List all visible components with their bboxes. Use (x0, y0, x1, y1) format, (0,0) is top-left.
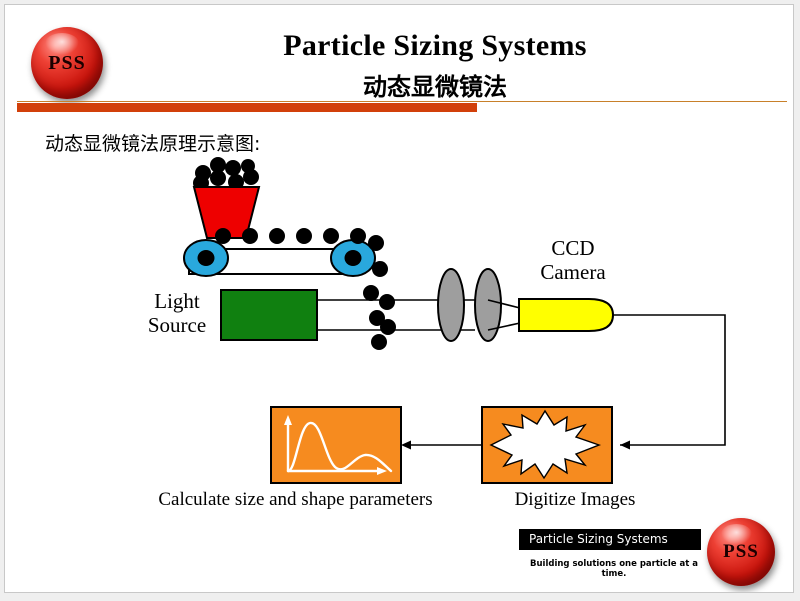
pss-logo-footer: PSS (707, 518, 775, 586)
ccd-camera-label-line2: Camera (540, 260, 605, 284)
left-pulley (184, 240, 228, 276)
footer-brand-text: Particle Sizing Systems (529, 532, 668, 546)
signal-arrowhead-digitize (620, 441, 630, 450)
arrow-head-calculate (401, 441, 411, 450)
lens-two (475, 269, 501, 341)
lens-one (438, 269, 464, 341)
footer-tagline: Building solutions one particle at a tim… (519, 559, 709, 579)
ccd-camera-label: CCD Camera (513, 237, 633, 284)
light-source-label-line2: Source (148, 313, 206, 337)
slide-canvas: PSS Particle Sizing Systems 动态显微镜法 动态显微镜… (4, 4, 794, 593)
light-source-box (221, 290, 317, 340)
pss-logo-footer-text: PSS (707, 518, 775, 586)
hopper-particles (193, 157, 259, 191)
calculate-caption: Calculate size and shape parameters (113, 489, 478, 510)
light-source-label-line1: Light (154, 289, 200, 313)
ccd-camera (519, 299, 613, 331)
light-source-label: Light Source (133, 290, 221, 337)
signal-path (613, 315, 725, 445)
ccd-camera-label-line1: CCD (551, 236, 594, 260)
footer-brand-bar: Particle Sizing Systems (519, 529, 701, 550)
digitize-caption: Digitize Images (475, 489, 675, 510)
